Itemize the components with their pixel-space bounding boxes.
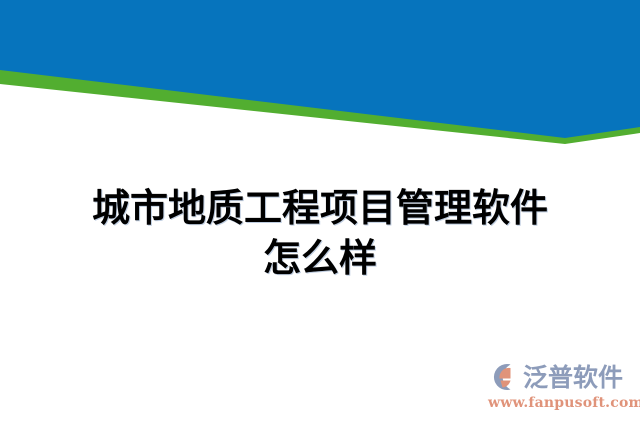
watermark-brand-text: 泛普软件: [523, 364, 623, 391]
page-title: 城市地质工程项目管理软件 怎么样: [0, 183, 640, 283]
title-line-1: 城市地质工程项目管理软件: [0, 183, 640, 233]
watermark-url-text: www.fanpusoft.com: [488, 395, 632, 412]
watermark: 泛普软件 www.fanpusoft.com: [486, 355, 632, 419]
fanpu-logo-icon: [486, 360, 520, 394]
title-line-2: 怎么样: [0, 233, 640, 283]
top-banner-graphic: [0, 0, 640, 150]
watermark-brand-row: 泛普软件: [486, 359, 632, 395]
slide-canvas: 城市地质工程项目管理软件 怎么样 泛普软件 www.fanpusoft.com: [0, 0, 640, 427]
